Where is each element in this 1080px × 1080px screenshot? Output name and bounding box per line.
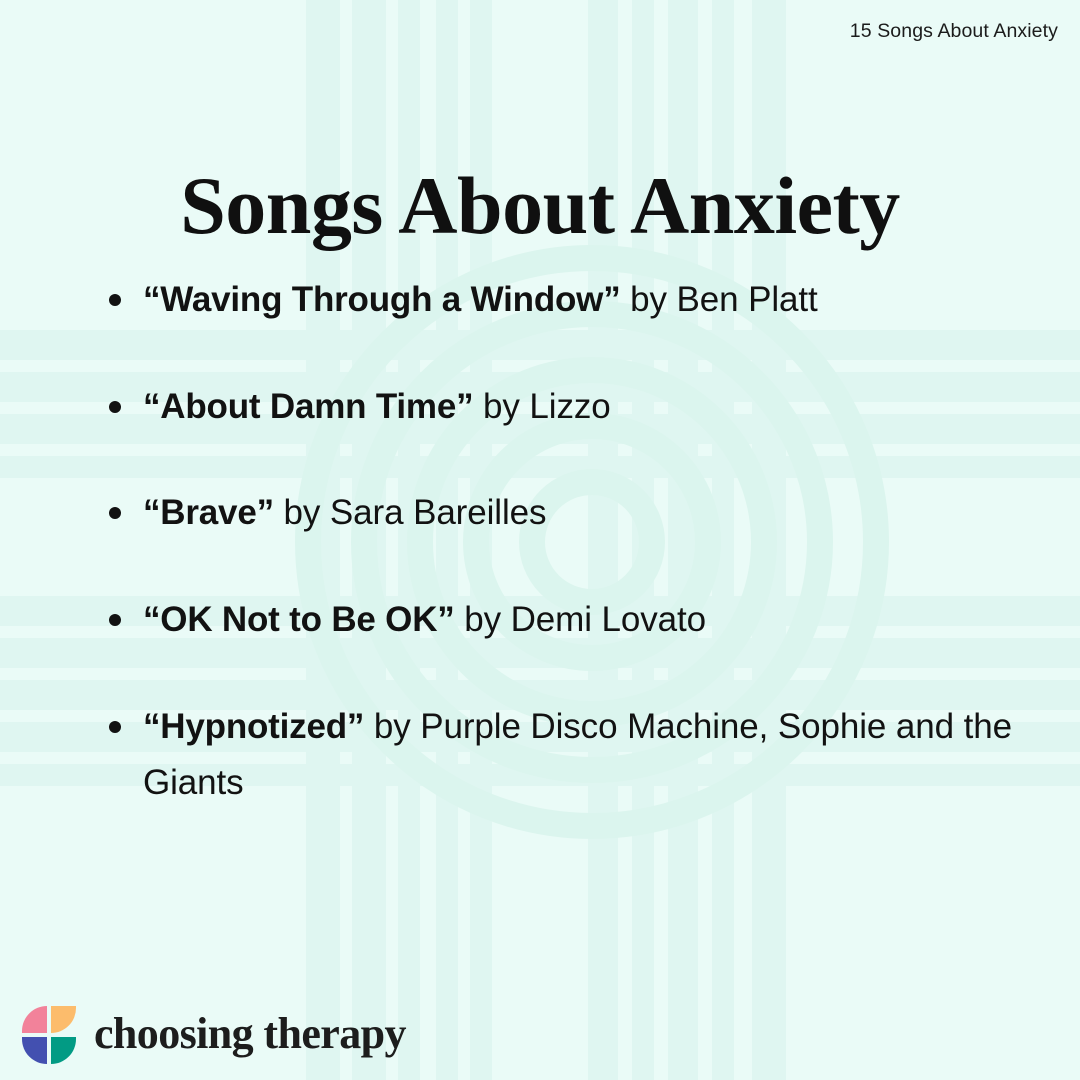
song-title: “OK Not to Be OK” [143, 600, 455, 639]
song-title: “Waving Through a Window” [143, 280, 621, 319]
brand-logo: choosing therapy [22, 1006, 406, 1066]
song-artist: by Ben Platt [621, 280, 818, 319]
song-list: “Waving Through a Window” by Ben Platt “… [100, 272, 1020, 812]
list-item: “Hypnotized” by Purple Disco Machine, So… [100, 699, 1020, 812]
list-item: “Waving Through a Window” by Ben Platt [100, 272, 1020, 329]
song-artist: by Demi Lovato [455, 600, 706, 639]
logo-quadrant-top-left-icon [22, 1006, 47, 1033]
bullet-icon [109, 721, 121, 733]
song-artist: by Lizzo [473, 387, 610, 426]
slide-canvas: 15 Songs About Anxiety Songs About Anxie… [0, 0, 1080, 1080]
bullet-icon [109, 401, 121, 413]
song-title: “About Damn Time” [143, 387, 473, 426]
logo-mark-icon [22, 1006, 78, 1066]
song-artist: by Sara Bareilles [274, 493, 547, 532]
bullet-icon [109, 507, 121, 519]
list-item: “Brave” by Sara Bareilles [100, 485, 1020, 542]
page-title: Songs About Anxiety [0, 163, 1080, 249]
bullet-icon [109, 614, 121, 626]
song-title: “Hypnotized” [143, 707, 364, 746]
bullet-icon [109, 294, 121, 306]
logo-wordmark: choosing therapy [94, 1012, 406, 1060]
list-item: “About Damn Time” by Lizzo [100, 379, 1020, 436]
logo-quadrant-bottom-right-icon [51, 1037, 76, 1064]
song-title: “Brave” [143, 493, 274, 532]
logo-quadrant-bottom-left-icon [22, 1037, 47, 1064]
logo-quadrant-top-right-icon [51, 1006, 76, 1033]
page-eyebrow-title: 15 Songs About Anxiety [850, 20, 1058, 43]
list-item: “OK Not to Be OK” by Demi Lovato [100, 592, 1020, 649]
